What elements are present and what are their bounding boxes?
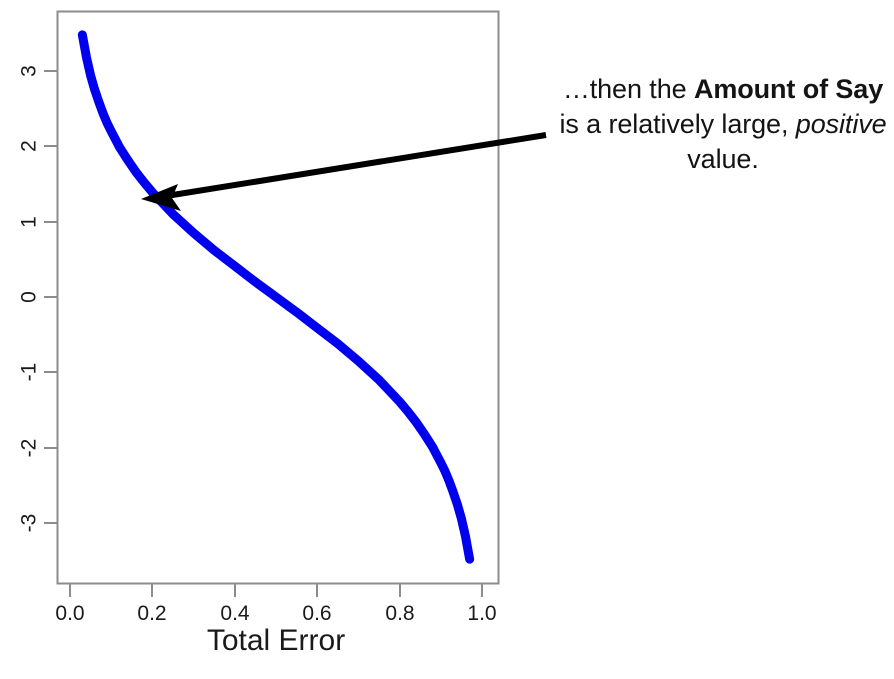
x-tick-label-4: 0.8 (385, 603, 414, 624)
y-tick-label-neg1: -1 (19, 363, 40, 382)
annotation-text: …then the Amount of Say is a relatively … (558, 72, 888, 177)
annotation-tail: value. (687, 144, 758, 174)
y-tick-label-neg3: -3 (19, 514, 40, 533)
annotation-bold-term: Amount of Say (694, 74, 883, 104)
annotation-lead: …then the (563, 74, 694, 104)
x-axis-ticks (70, 584, 482, 597)
y-tick-label-0: 0 (19, 291, 40, 303)
x-tick-label-3: 0.6 (302, 603, 331, 624)
x-tick-label-2: 0.4 (220, 603, 249, 624)
logit-curve (82, 35, 469, 559)
annotation-italic-term: positive (796, 109, 887, 139)
y-tick-label-neg2: -2 (19, 439, 40, 458)
chart-figure: 0.0 0.2 0.4 0.6 0.8 1.0 3 2 1 0 -1 -2 -3… (0, 0, 894, 679)
annotation-arrow (141, 135, 546, 211)
y-tick-label-3: 3 (19, 65, 40, 77)
x-tick-label-1: 0.2 (137, 603, 166, 624)
y-axis-ticks (44, 71, 57, 523)
annotation-mid: is a relatively large, (559, 109, 795, 139)
x-tick-label-5: 1.0 (467, 603, 496, 624)
x-tick-label-0: 0.0 (55, 603, 84, 624)
y-tick-label-2: 2 (19, 140, 40, 152)
x-axis-title: Total Error (207, 626, 345, 656)
y-tick-label-1: 1 (19, 216, 40, 228)
